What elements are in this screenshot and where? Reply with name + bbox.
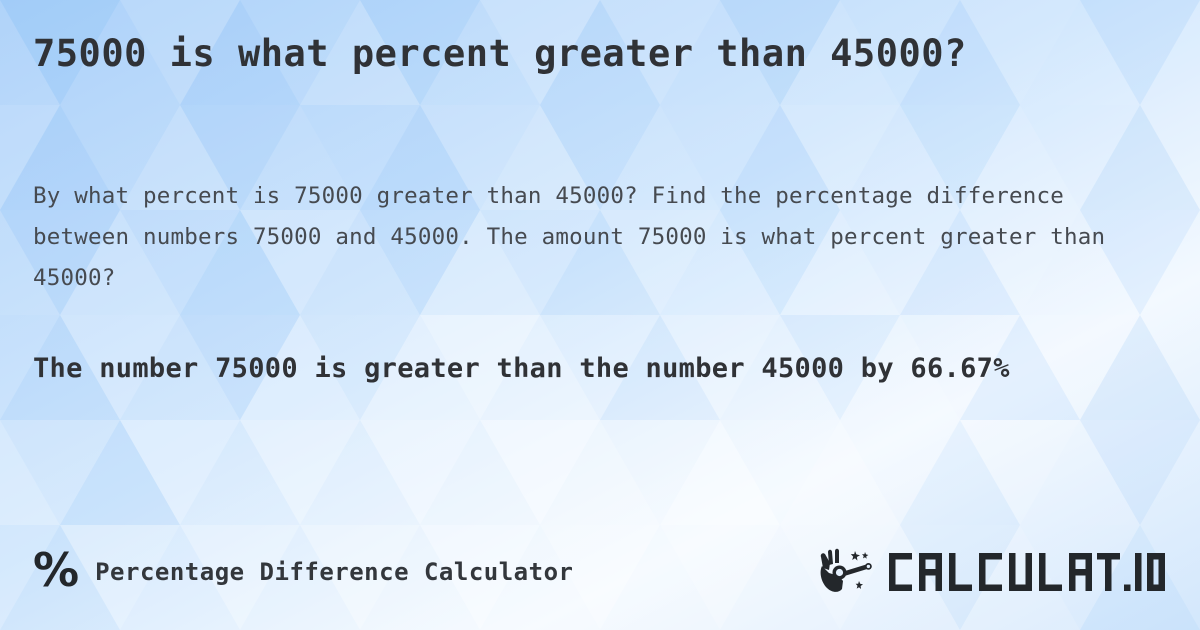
answer-statement: The number 75000 is greater than the num…	[33, 345, 1133, 393]
footer-branding: % Percentage Difference Calculator	[33, 549, 573, 595]
footer: % Percentage Difference Calculator	[0, 540, 1200, 630]
calculator-name-label: Percentage Difference Calculator	[95, 558, 573, 586]
percent-icon: %	[33, 547, 79, 593]
page-title: 75000 is what percent greater than 45000…	[33, 30, 1093, 78]
hand-magic-wand-icon	[817, 548, 879, 596]
description-paragraph: By what percent is 75000 greater than 45…	[33, 176, 1145, 299]
page-container: 75000 is what percent greater than 45000…	[0, 0, 1200, 630]
brand-wordmark: CALCULAT.IO	[887, 551, 1167, 593]
site-logo[interactable]: CALCULAT.IO	[817, 548, 1167, 596]
